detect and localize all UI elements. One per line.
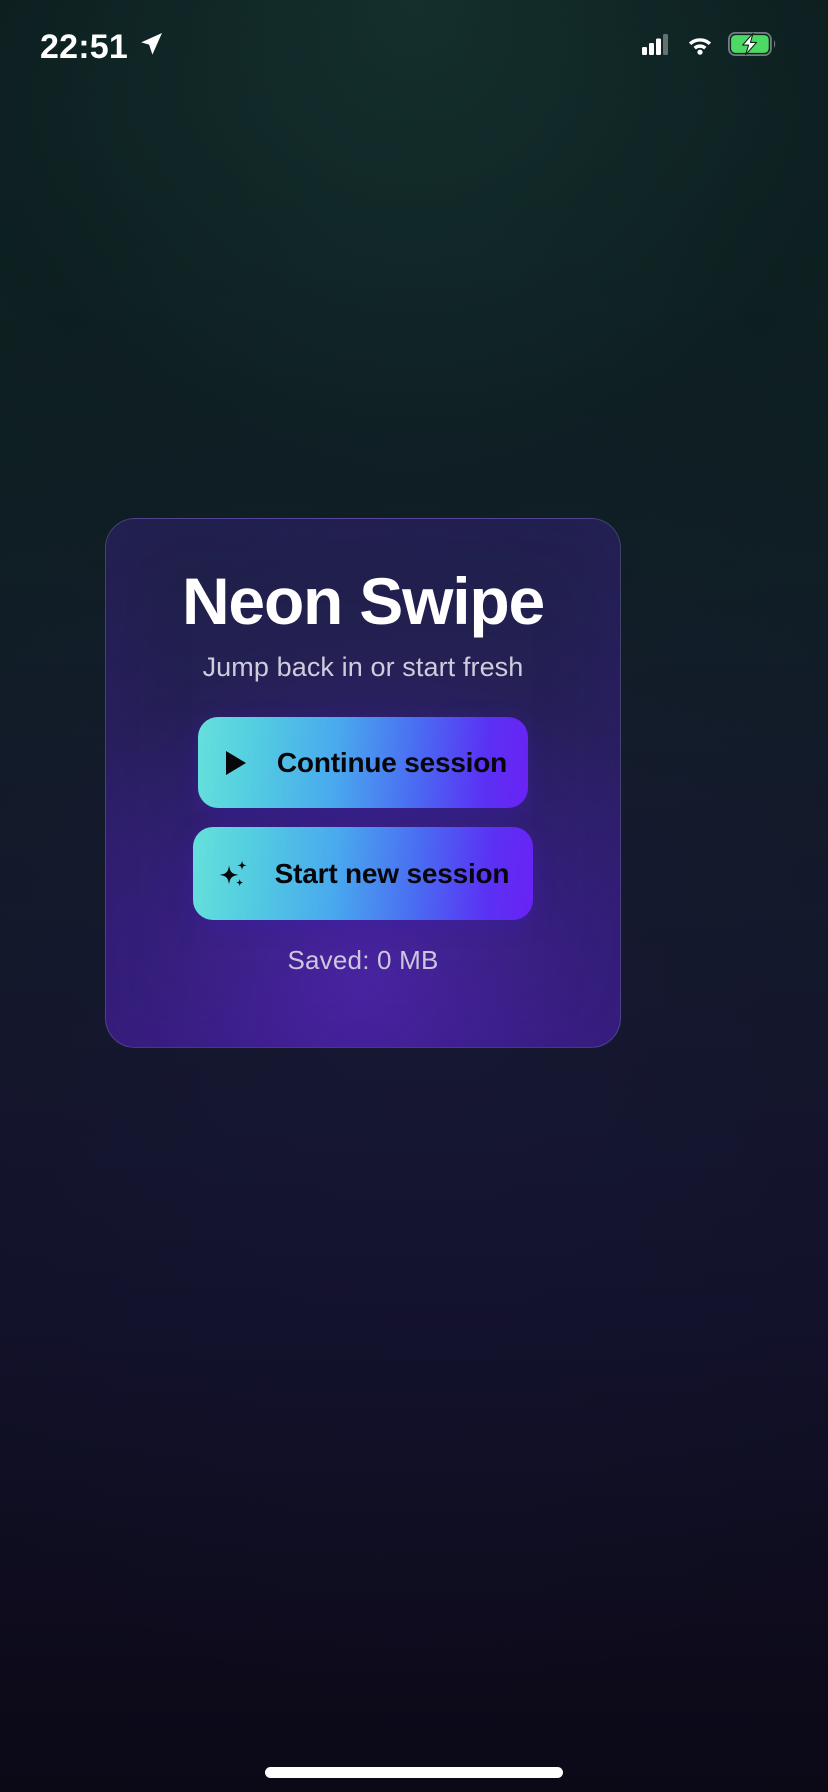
cellular-signal-icon xyxy=(642,33,672,60)
location-arrow-icon xyxy=(138,31,164,62)
session-card: Neon Swipe Jump back in or start fresh C… xyxy=(105,518,621,1048)
wifi-icon xyxy=(685,33,715,60)
status-bar-clock: 22:51 xyxy=(40,30,128,64)
start-new-session-button[interactable]: Start new session xyxy=(193,827,533,920)
start-new-session-label: Start new session xyxy=(275,860,510,888)
battery-charging-icon xyxy=(728,32,776,61)
continue-session-button[interactable]: Continue session xyxy=(198,717,528,808)
page-subtitle: Jump back in or start fresh xyxy=(203,636,524,683)
continue-session-label: Continue session xyxy=(277,749,507,777)
status-bar: 22:51 xyxy=(0,0,828,92)
page-title: Neon Swipe xyxy=(182,519,544,636)
play-triangle-icon xyxy=(219,746,253,780)
app-screen: 22:51 xyxy=(0,0,828,1792)
sparkles-icon xyxy=(217,857,251,891)
status-bar-left: 22:51 xyxy=(40,28,164,64)
home-indicator[interactable] xyxy=(265,1767,563,1778)
saved-storage-status: Saved: 0 MB xyxy=(287,920,438,976)
status-bar-right xyxy=(642,32,776,61)
